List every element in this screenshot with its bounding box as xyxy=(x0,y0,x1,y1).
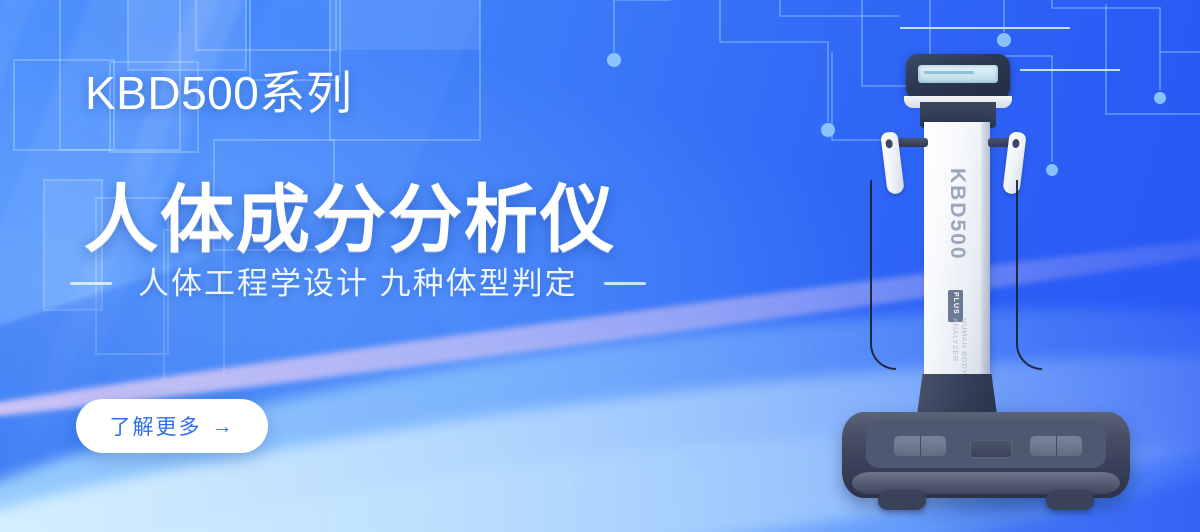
device-brand-text: KBD500 xyxy=(924,168,990,288)
platform-foot-right xyxy=(1046,490,1094,510)
handle-grip-left xyxy=(885,139,893,149)
dash-right-icon xyxy=(604,282,646,285)
device-brand-label: KBD500 xyxy=(945,168,969,261)
handle-arm-left xyxy=(898,138,928,147)
device-cable-right xyxy=(1016,180,1042,370)
device-column: KBD500 PLUS HUMAN BODY COMPOSITION ANALY… xyxy=(924,122,990,382)
product-series-label: KBD500系列 xyxy=(85,70,352,116)
subtitle-text: 人体工程学设计 九种体型判定 xyxy=(138,268,578,299)
platform-foot-left xyxy=(878,490,926,510)
foot-electrode-left xyxy=(894,436,946,456)
electrode-divider-right xyxy=(1056,436,1057,456)
learn-more-button[interactable]: 了解更多 → xyxy=(76,399,268,453)
device-badge-label: PLUS xyxy=(952,292,959,315)
dash-left-icon xyxy=(70,282,112,285)
device-screen xyxy=(918,65,998,83)
platform-center-plate xyxy=(970,440,1012,458)
learn-more-label: 了解更多 xyxy=(110,411,202,441)
product-banner: KBD500系列 人体成分分析仪 人体工程学设计 九种体型判定 了解更多 → K… xyxy=(0,0,1200,532)
electrode-divider-left xyxy=(920,436,921,456)
banner-content: KBD500系列 人体成分分析仪 人体工程学设计 九种体型判定 了解更多 → xyxy=(0,0,700,532)
device-badge: PLUS xyxy=(948,290,963,322)
screen-content-line xyxy=(924,71,974,74)
body-composition-analyzer-image: KBD500 PLUS HUMAN BODY COMPOSITION ANALY… xyxy=(820,40,1150,520)
page-title: 人体成分分析仪 xyxy=(84,183,616,257)
handle-grip-right xyxy=(1012,139,1020,149)
foot-electrode-right xyxy=(1030,436,1082,456)
device-cable-left xyxy=(870,180,896,370)
device-platform xyxy=(842,412,1130,498)
device-display-head xyxy=(906,54,1010,100)
subtitle-row: 人体工程学设计 九种体型判定 xyxy=(70,268,646,299)
arrow-right-icon: → xyxy=(212,416,235,437)
